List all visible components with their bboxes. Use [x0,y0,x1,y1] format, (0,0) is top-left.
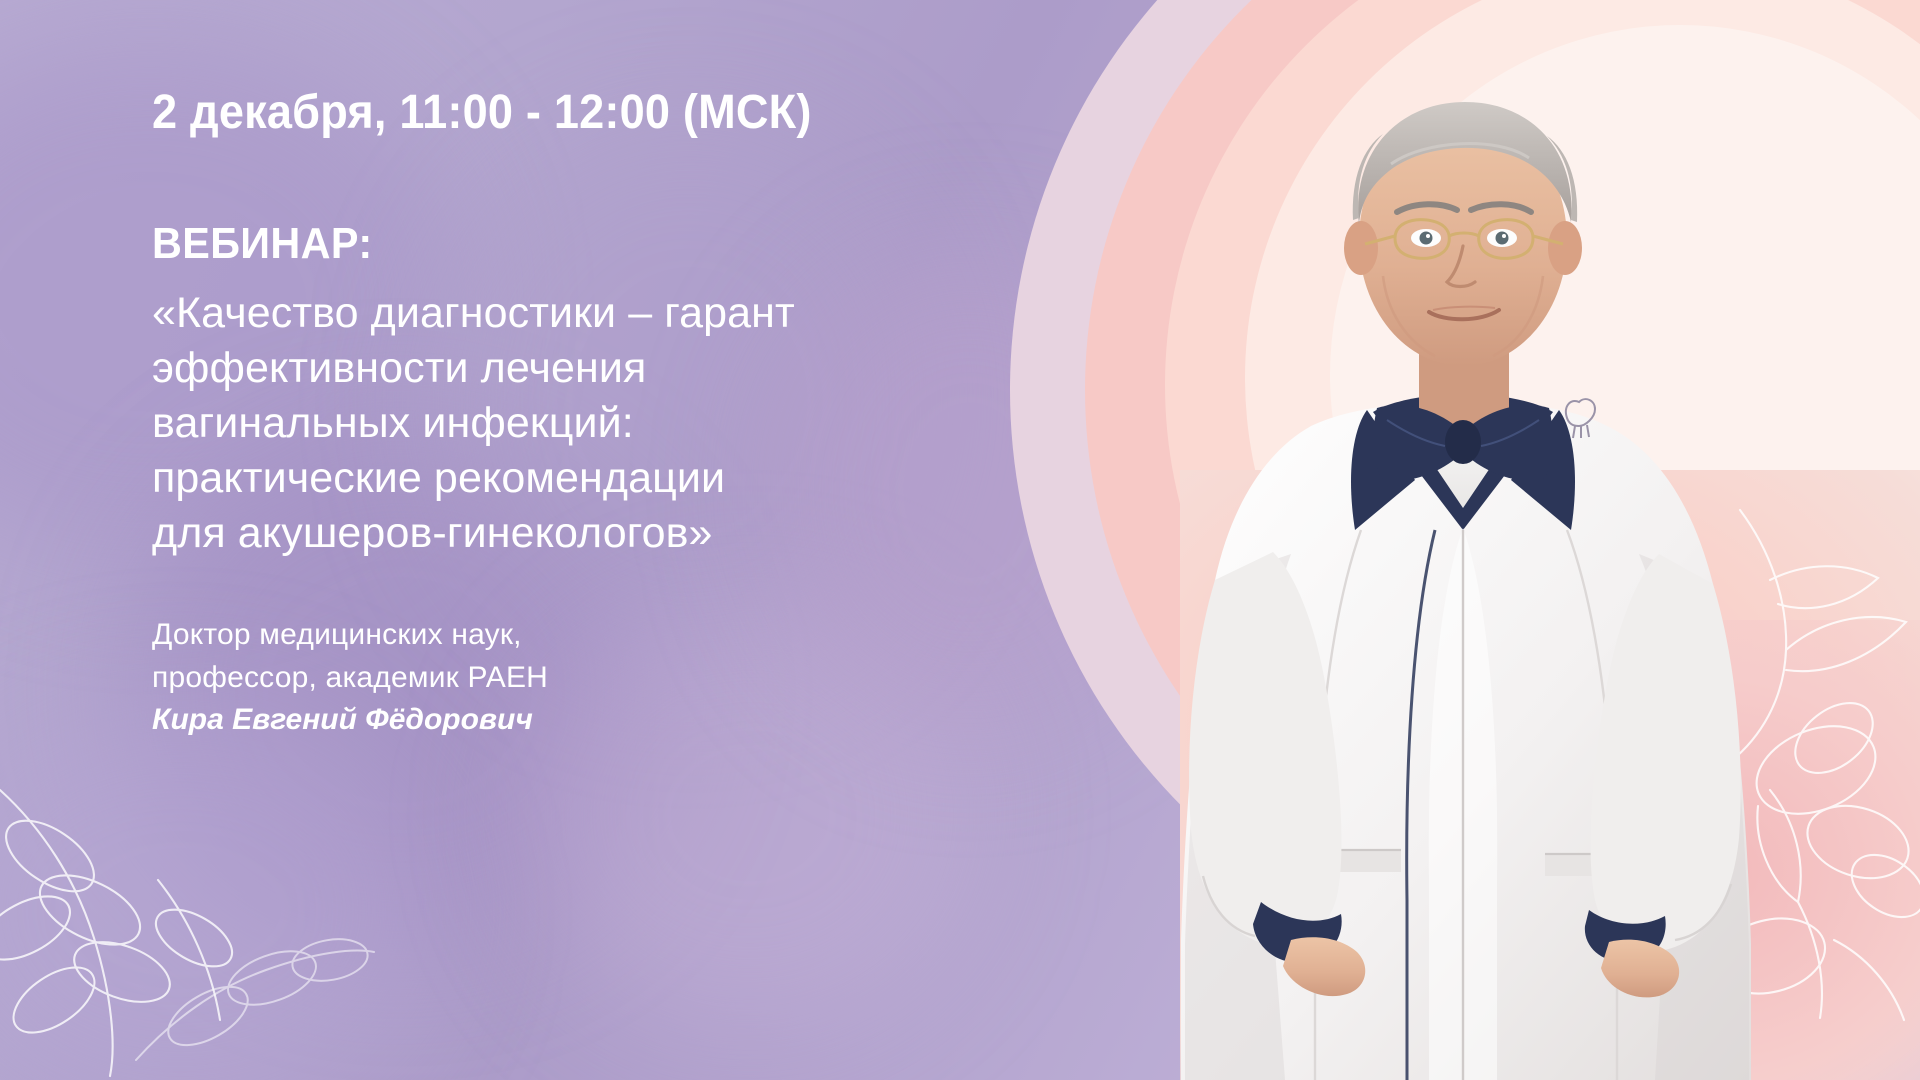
event-date-time: 2 декабря, 11:00 - 12:00 (МСК) [152,88,812,138]
speaker-name: Кира Евгений Фёдорович [152,699,772,742]
banner-text-column: 2 декабря, 11:00 - 12:00 (МСК) ВЕБИНАР: … [152,0,992,1080]
webinar-kicker-label: ВЕБИНАР: [152,222,372,266]
title-line: вагинальных инфекций: [152,396,982,451]
speaker-credentials: Доктор медицинских наук, профессор, акад… [152,614,772,742]
title-line: для акушеров-гинекологов» [152,506,982,561]
webinar-title: «Качество диагностики – гарант эффективн… [152,286,982,561]
title-line: эффективности лечения [152,341,982,396]
title-line: практические рекомендации [152,451,982,506]
credentials-line: профессор, академик РАЕН [152,657,772,700]
title-line: «Качество диагностики – гарант [152,286,982,341]
doctor-portrait [1115,60,1815,1080]
webinar-promo-banner: 2 декабря, 11:00 - 12:00 (МСК) ВЕБИНАР: … [0,0,1920,1080]
credentials-line: Доктор медицинских наук, [152,614,772,657]
